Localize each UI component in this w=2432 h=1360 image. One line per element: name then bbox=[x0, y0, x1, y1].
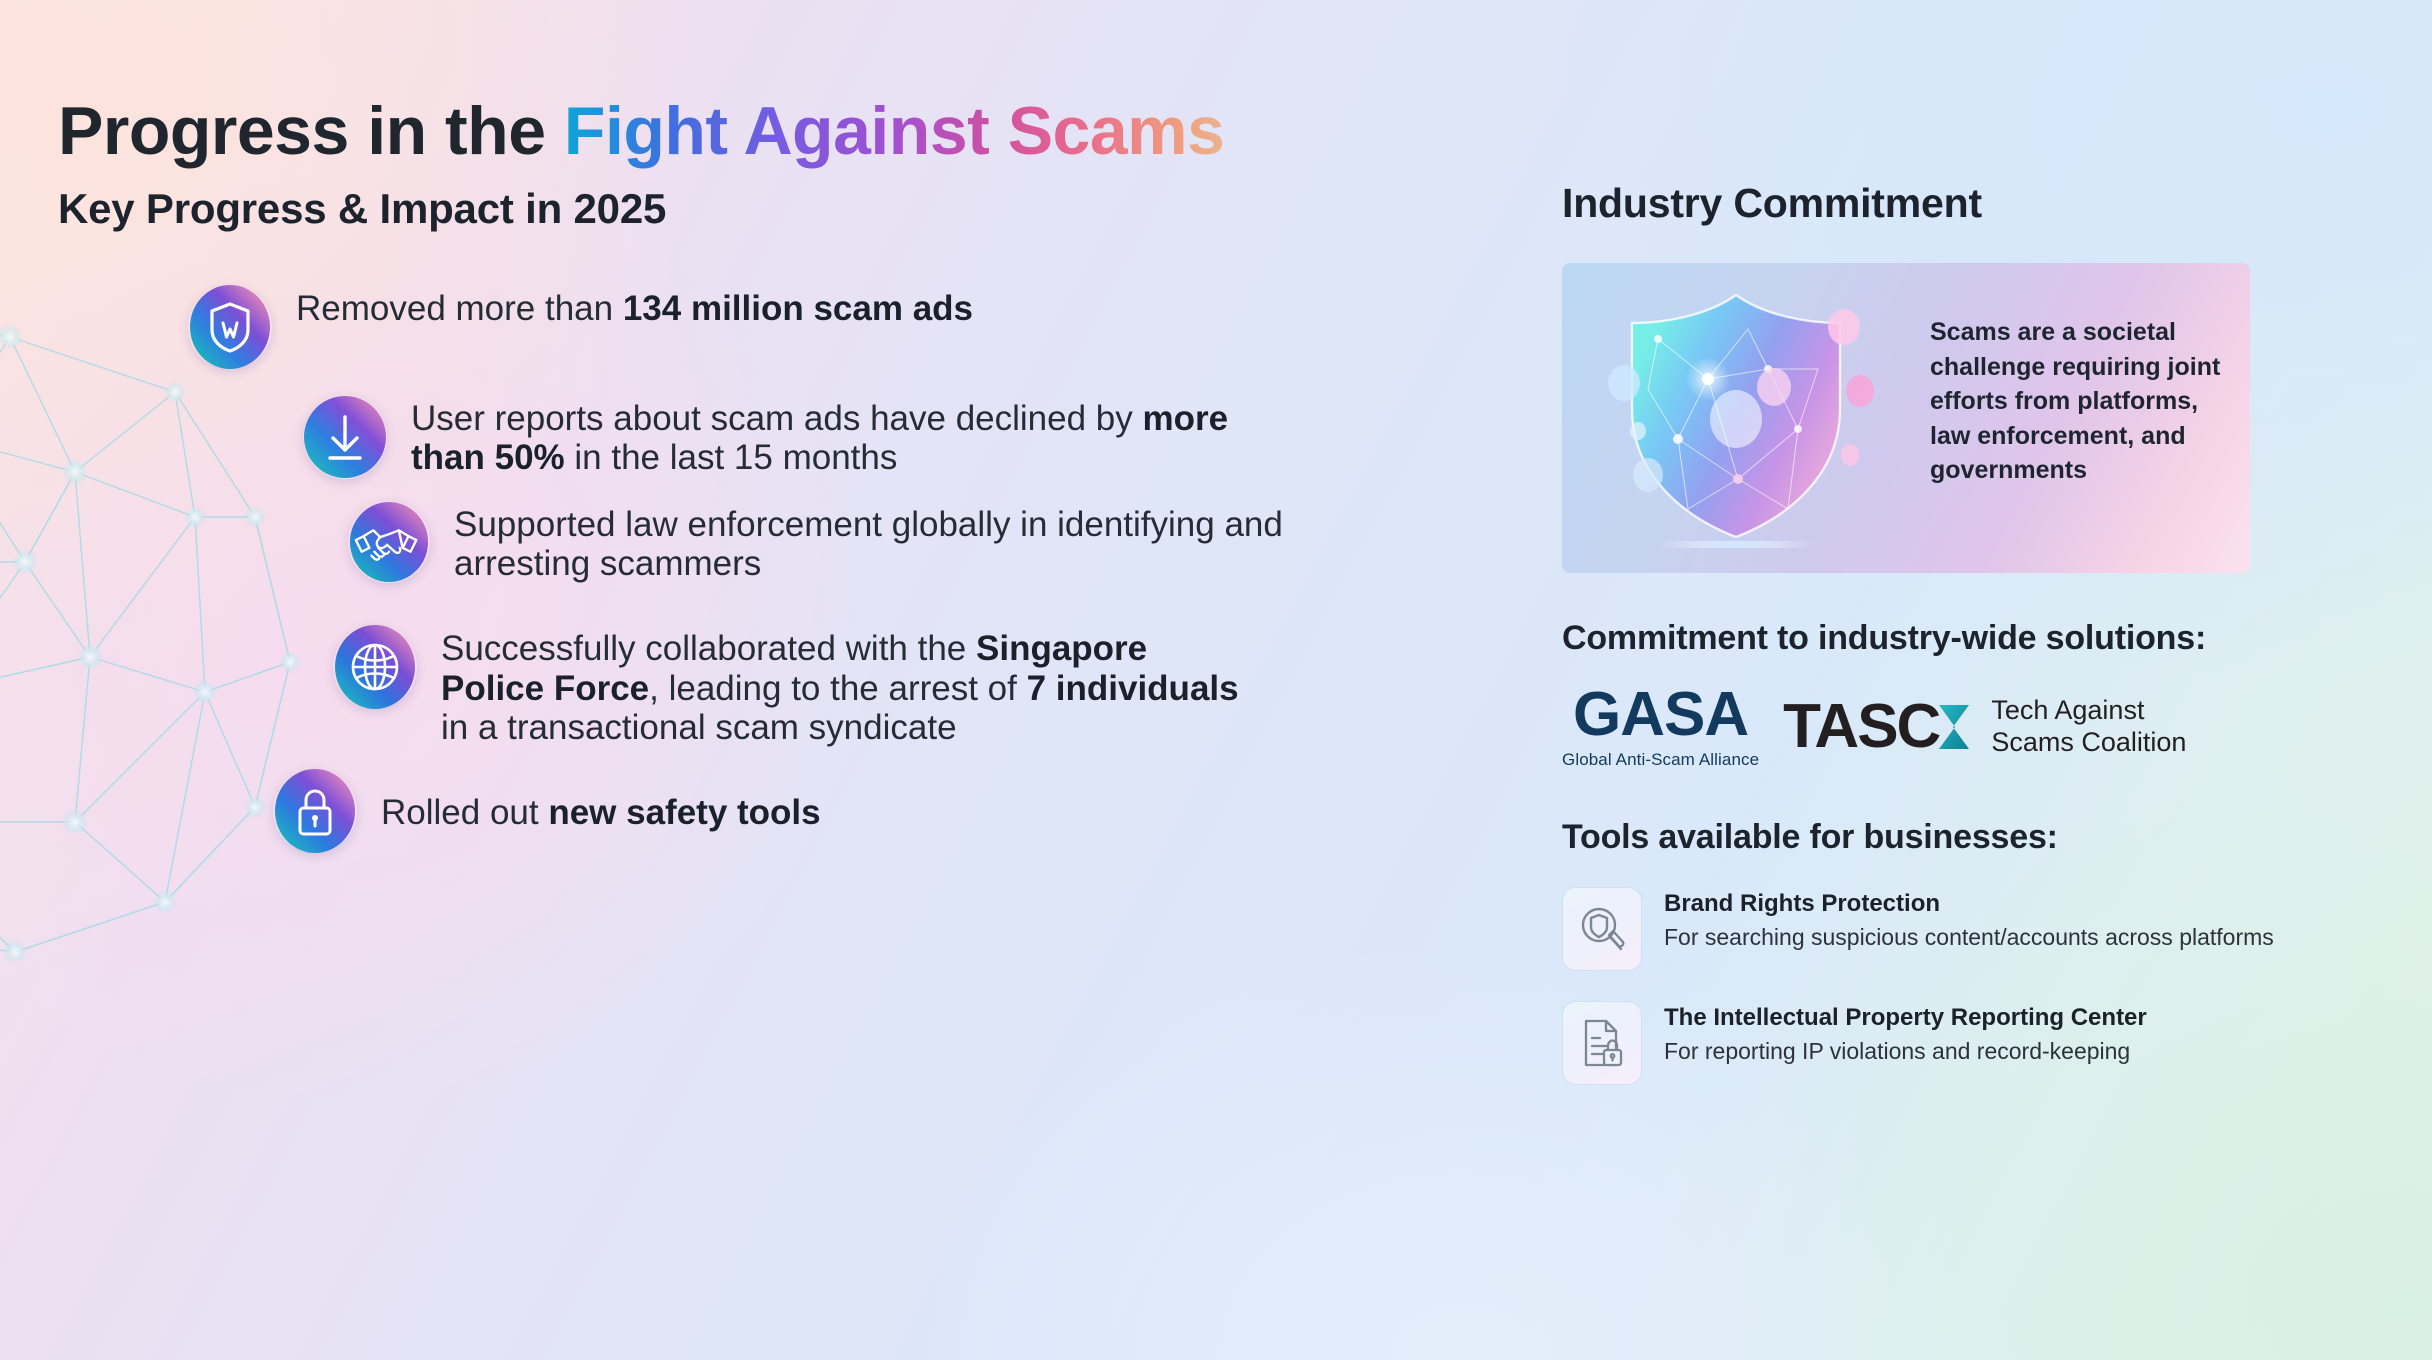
list-item-text-strong: 134 million scam ads bbox=[623, 289, 973, 328]
page-title-part-dark: Progress in the bbox=[58, 93, 564, 169]
download-arrow-icon bbox=[303, 395, 387, 479]
list-item: Removed more than 134 million scam ads bbox=[188, 285, 1478, 369]
tool-card-description: For reporting IP violations and record-k… bbox=[1664, 1036, 2147, 1067]
list-item-text-post-2: in a transactional scam syndicate bbox=[441, 708, 957, 747]
list-item-text-post: in the last 15 months bbox=[565, 438, 898, 477]
list-item-text-pre: Removed more than bbox=[296, 289, 623, 328]
partner-logos: GASA Global Anti-Scam Alliance TASC Tech… bbox=[1562, 684, 2362, 770]
tasc-name: Tech Against Scams Coalition bbox=[1991, 695, 2186, 759]
gasa-tagline: Global Anti-Scam Alliance bbox=[1562, 750, 1759, 770]
gasa-wordmark: GASA bbox=[1573, 684, 1748, 746]
list-item-text-pre: Rolled out bbox=[381, 793, 548, 832]
page-title-part-gradient: Fight Against Scams bbox=[564, 93, 1225, 169]
list-item: Rolled out new safety tools bbox=[273, 769, 1478, 853]
tool-card-title: Brand Rights Protection bbox=[1664, 889, 2274, 919]
list-item-text-pre: Successfully collaborated with the bbox=[441, 629, 976, 668]
tool-card-brand-rights-protection[interactable]: Brand Rights Protection For searching su… bbox=[1562, 887, 2362, 971]
magnifier-shield-icon bbox=[1562, 887, 1642, 971]
list-item-text: User reports about scam ads have decline… bbox=[411, 395, 1251, 477]
gasa-letters: GASA bbox=[1573, 684, 1748, 746]
tasc-wordmark: TASC bbox=[1783, 696, 1977, 758]
tools-subheading: Tools available for businesses: bbox=[1562, 818, 2362, 857]
document-lock-icon bbox=[1562, 1001, 1642, 1085]
list-item: User reports about scam ads have decline… bbox=[303, 395, 1478, 479]
list-item-text: Rolled out new safety tools bbox=[381, 789, 821, 832]
list-item-text: Supported law enforcement globally in id… bbox=[454, 501, 1294, 583]
tool-card-ip-reporting-center[interactable]: The Intellectual Property Reporting Cent… bbox=[1562, 1001, 2362, 1085]
list-item-text-pre: User reports about scam ads have decline… bbox=[411, 399, 1143, 438]
list-item-text-post: , leading to the arrest of bbox=[649, 669, 1026, 708]
commitment-card-text: Scams are a societal challenge requiring… bbox=[1930, 315, 2230, 488]
list-item: Supported law enforcement globally in id… bbox=[348, 501, 1478, 583]
list-item: Successfully collaborated with the Singa… bbox=[333, 625, 1478, 747]
list-item-text-strong: new safety tools bbox=[548, 793, 820, 832]
left-column-heading: Key Progress & Impact in 2025 bbox=[58, 185, 1478, 233]
tool-card-body: Brand Rights Protection For searching su… bbox=[1664, 887, 2274, 953]
network-shield-illustration bbox=[1588, 279, 1918, 559]
list-item-text-strong-2: 7 individuals bbox=[1027, 669, 1239, 708]
page-title: Progress in the Fight Against Scams bbox=[58, 92, 1224, 170]
gasa-logo: GASA Global Anti-Scam Alliance bbox=[1562, 684, 1759, 770]
commitment-subheading: Commitment to industry-wide solutions: bbox=[1562, 619, 2362, 658]
lock-icon bbox=[273, 769, 357, 853]
tool-card-body: The Intellectual Property Reporting Cent… bbox=[1664, 1001, 2147, 1067]
commitment-card: Scams are a societal challenge requiring… bbox=[1562, 263, 2250, 573]
key-progress-list: Removed more than 134 million scam ads bbox=[58, 285, 1478, 853]
tasc-letters: TASC bbox=[1783, 696, 1939, 758]
tool-card-description: For searching suspicious content/account… bbox=[1664, 922, 2274, 953]
globe-icon bbox=[333, 625, 417, 709]
infographic-page: Progress in the Fight Against Scams Key … bbox=[0, 0, 2432, 1360]
list-item-text: Successfully collaborated with the Singa… bbox=[441, 625, 1241, 747]
left-column: Key Progress & Impact in 2025 bbox=[58, 185, 1478, 853]
industry-commitment-heading: Industry Commitment bbox=[1562, 180, 2362, 227]
handshake-icon bbox=[348, 501, 430, 583]
tool-card-title: The Intellectual Property Reporting Cent… bbox=[1664, 1003, 2147, 1033]
tasc-logo: TASC Tech Against Scams Coalition bbox=[1783, 695, 2186, 759]
tasc-chevron-icon bbox=[1933, 699, 1977, 755]
tasc-name-line-2: Scams Coalition bbox=[1991, 727, 2186, 759]
shield-w-icon bbox=[188, 285, 272, 369]
tasc-name-line-1: Tech Against bbox=[1991, 695, 2186, 727]
list-item-text: Removed more than 134 million scam ads bbox=[296, 285, 973, 328]
right-column: Industry Commitment bbox=[1562, 180, 2362, 1085]
